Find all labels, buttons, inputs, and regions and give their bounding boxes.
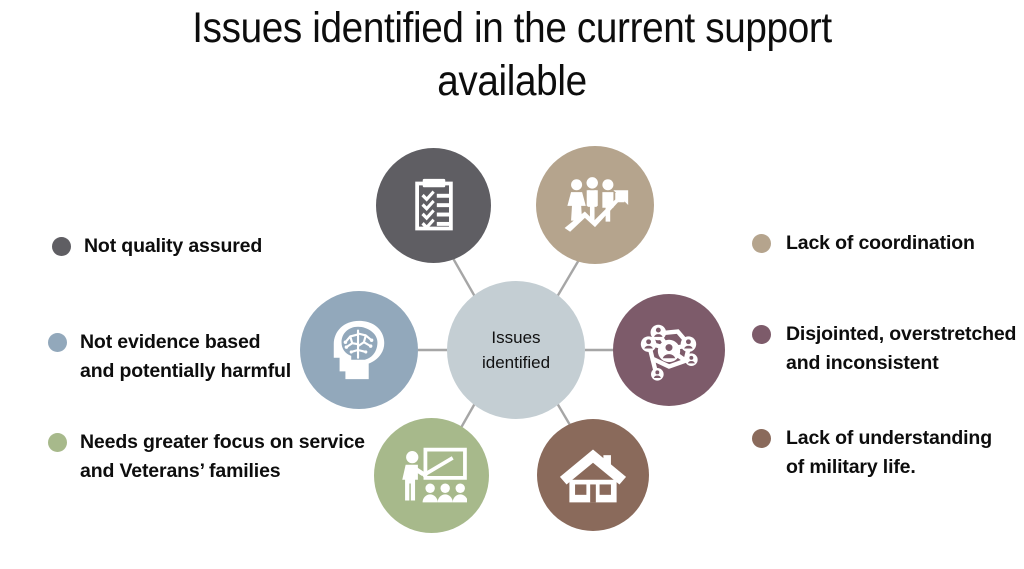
hub-circle-issues-identified[interactable]: Issues identified: [447, 281, 585, 419]
legend-item-not-evidence-based[interactable]: Not evidence based and potentially harmf…: [48, 328, 358, 385]
legend-dot-needs-greater-focus: [48, 433, 67, 452]
slide-canvas: Issues identified in the current support…: [0, 0, 1024, 569]
legend-dot-lack-of-understanding: [752, 429, 771, 448]
people-network-icon: [635, 316, 703, 384]
legend-item-disjointed-overstretched[interactable]: Disjointed, overstretched and inconsiste…: [752, 320, 1024, 377]
clipboard-checklist-icon: [404, 176, 464, 236]
legend-label-not-quality-assured: Not quality assured: [84, 232, 262, 261]
hub-label-line2: identified: [482, 350, 550, 375]
legend-label-not-evidence-based: Not evidence based and potentially harmf…: [80, 328, 291, 385]
house-icon: [559, 445, 627, 505]
legend-item-not-quality-assured[interactable]: Not quality assured: [52, 232, 352, 261]
legend-label-lack-of-coordination: Lack of coordination: [786, 229, 975, 258]
legend-item-lack-of-coordination[interactable]: Lack of coordination: [752, 229, 1022, 258]
legend-dot-disjointed-overstretched: [752, 325, 771, 344]
node-circle-disjointed-overstretched[interactable]: [613, 294, 725, 406]
node-circle-not-quality-assured[interactable]: [376, 148, 491, 263]
legend-label-lack-of-understanding: Lack of understanding of military life.: [786, 424, 992, 481]
legend-item-lack-of-understanding[interactable]: Lack of understanding of military life.: [752, 424, 1024, 481]
presenter-classroom-icon: [397, 444, 467, 508]
people-growth-arrow-icon: [560, 174, 630, 236]
legend-dot-lack-of-coordination: [752, 234, 771, 253]
hub-label-line1: Issues: [491, 325, 540, 350]
node-circle-lack-of-understanding[interactable]: [537, 419, 649, 531]
legend-label-needs-greater-focus: Needs greater focus on service and Veter…: [80, 428, 365, 485]
legend-dot-not-evidence-based: [48, 333, 67, 352]
legend-label-disjointed-overstretched: Disjointed, overstretched and inconsiste…: [786, 320, 1016, 377]
node-circle-lack-of-coordination[interactable]: [536, 146, 654, 264]
node-circle-needs-greater-focus[interactable]: [374, 418, 489, 533]
legend-dot-not-quality-assured: [52, 237, 71, 256]
legend-item-needs-greater-focus[interactable]: Needs greater focus on service and Veter…: [48, 428, 378, 485]
